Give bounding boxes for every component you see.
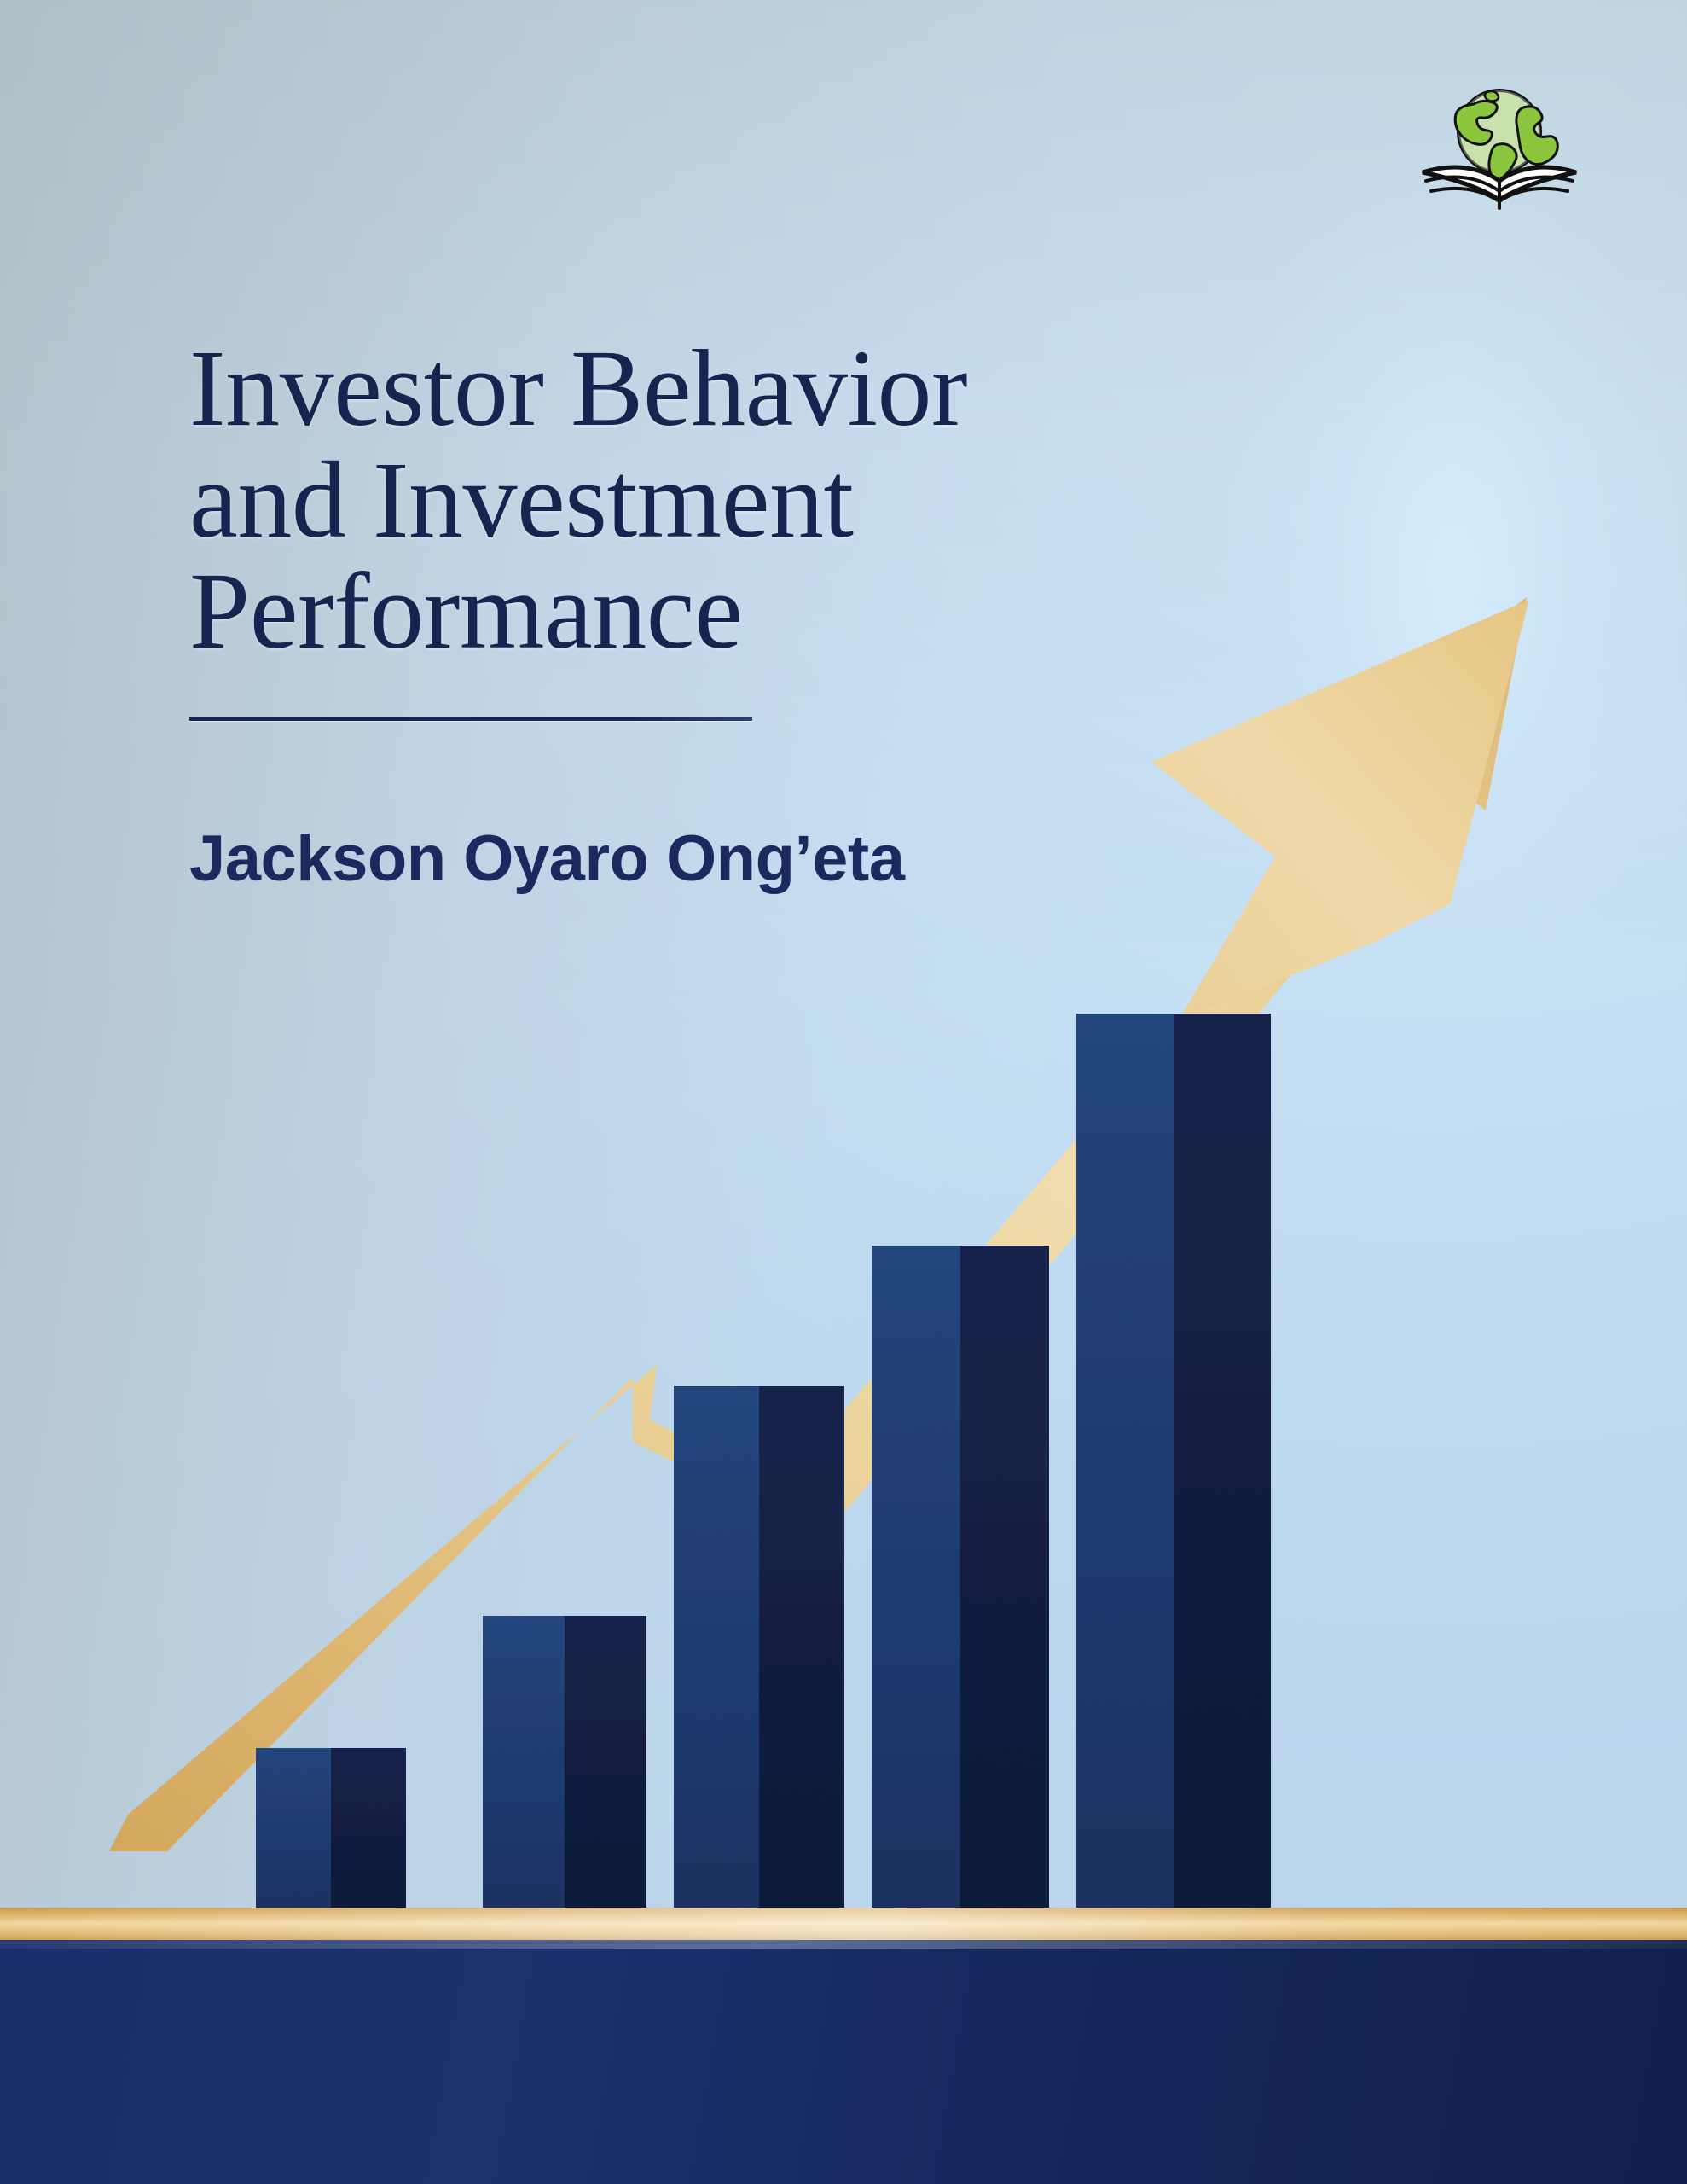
bar-1 xyxy=(256,1748,406,1908)
bar-5 xyxy=(1076,1014,1271,1908)
bar-3 xyxy=(674,1386,844,1908)
footer-top-sheen xyxy=(0,1940,1687,1949)
title-divider-rule xyxy=(189,717,752,721)
footer-band xyxy=(0,1940,1687,2184)
bar-2 xyxy=(483,1616,646,1908)
book-cover: Investor Behavior and Investment Perform… xyxy=(0,0,1687,2184)
title-block: Investor Behavior and Investment Perform… xyxy=(189,333,1400,896)
title-line-2: and Investment xyxy=(189,444,1400,556)
title-line-1: Investor Behavior xyxy=(189,333,1400,444)
author-name: Jackson Oyaro Ong’eta xyxy=(189,822,1400,896)
growth-chart-illustration xyxy=(0,0,1687,1949)
globe-on-open-book-publisher-logo xyxy=(1414,78,1585,215)
bar-4 xyxy=(872,1246,1049,1908)
page-title: Investor Behavior and Investment Perform… xyxy=(189,333,1400,667)
bar-group xyxy=(256,1014,1271,1908)
gold-ground-band xyxy=(0,1908,1687,1940)
title-line-3: Performance xyxy=(189,555,1400,667)
